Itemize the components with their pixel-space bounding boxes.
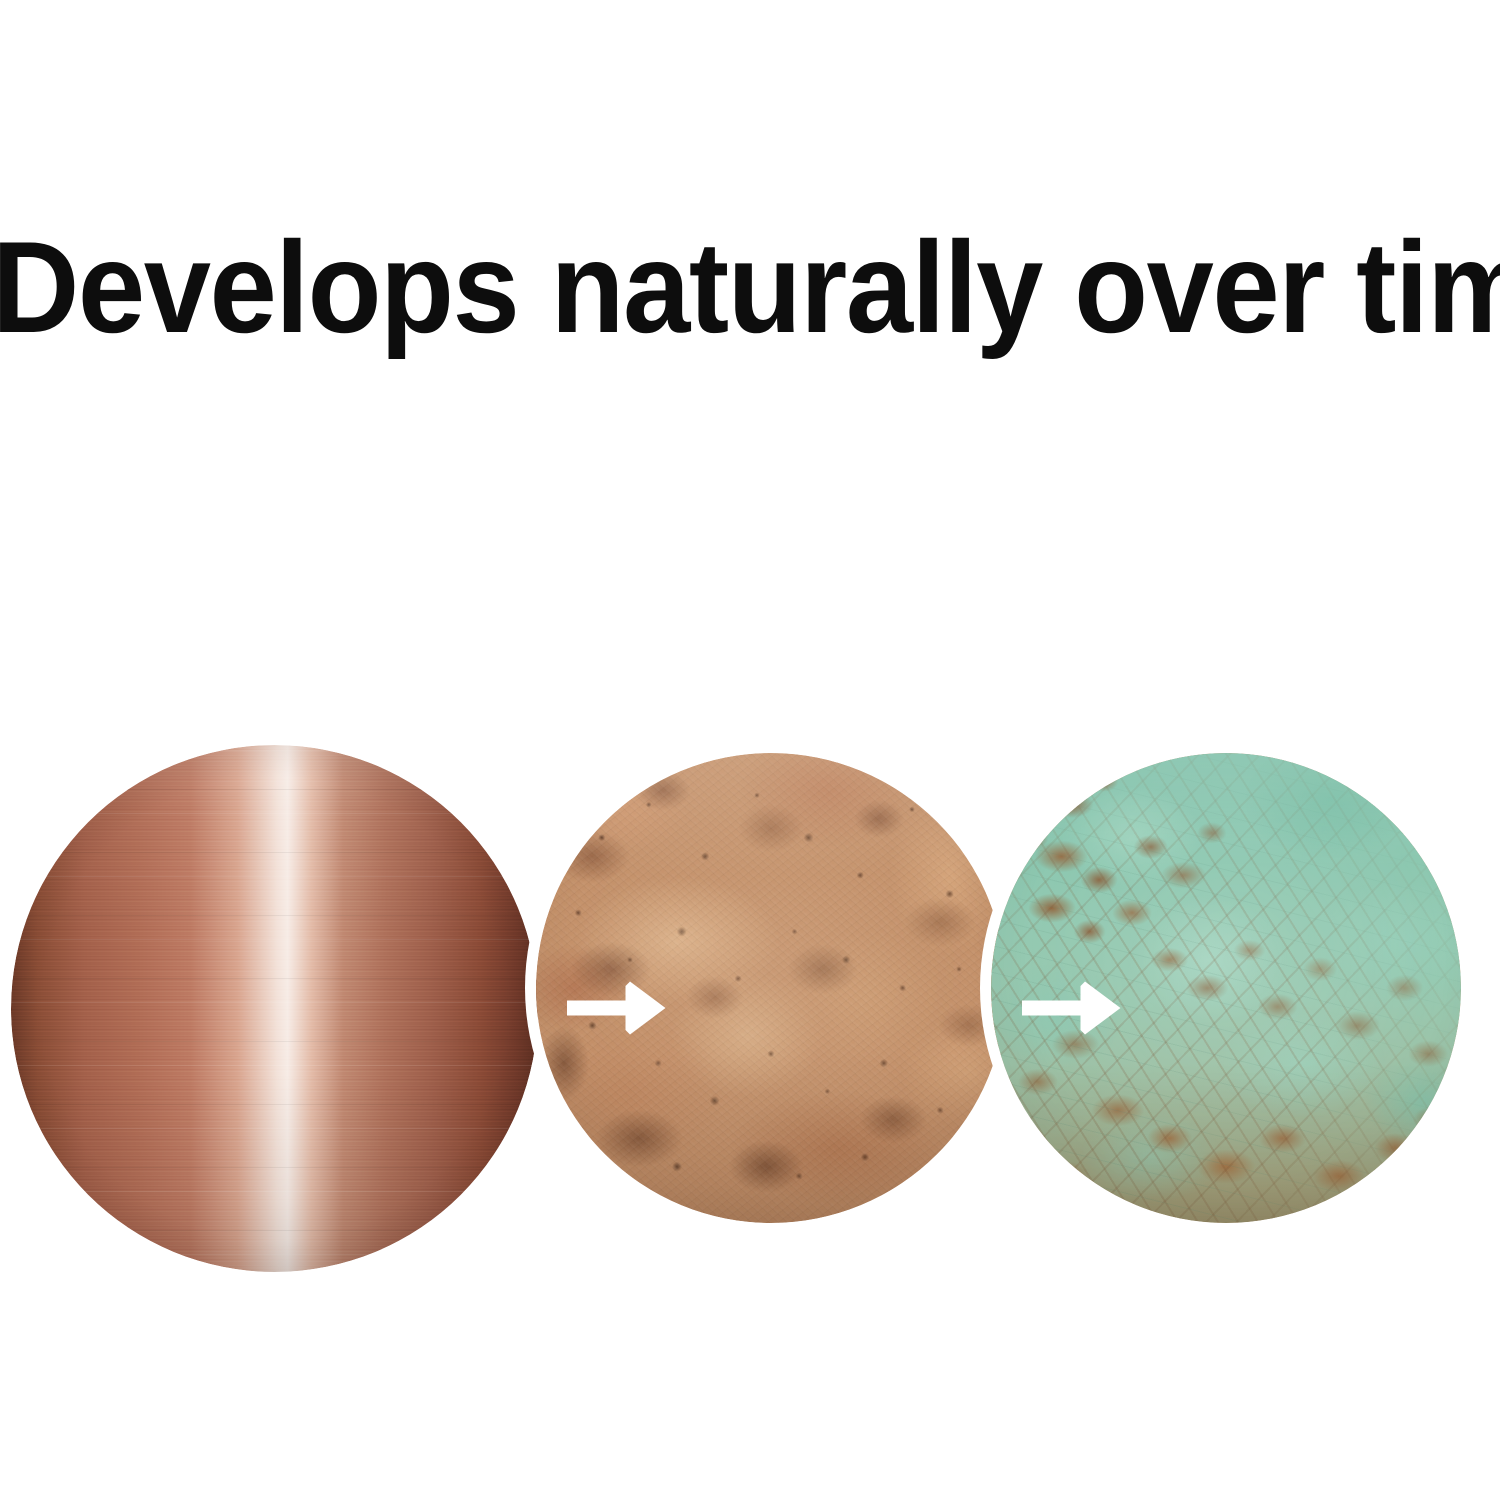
stage-circle-oxidized-copper[interactable]: Oxidized copper bbox=[536, 753, 1006, 1223]
stage-2-label: Oxidized copper bbox=[536, 753, 537, 754]
slide-canvas: Develops naturally over time Polished co… bbox=[0, 0, 1500, 1500]
process-diagram: Polished copper Oxidized copper Green pa… bbox=[0, 0, 1500, 1500]
green-patina-shading bbox=[991, 753, 1461, 1223]
stage-1-label: Polished copper bbox=[11, 745, 12, 746]
stage-3-label: Green patina bbox=[991, 753, 992, 754]
oxidized-copper-shading bbox=[536, 753, 1006, 1223]
stage-circle-green-patina[interactable]: Green patina bbox=[991, 753, 1461, 1223]
polished-copper-edge-vignette bbox=[11, 745, 538, 1272]
stage-circle-polished-copper[interactable]: Polished copper bbox=[11, 745, 538, 1272]
